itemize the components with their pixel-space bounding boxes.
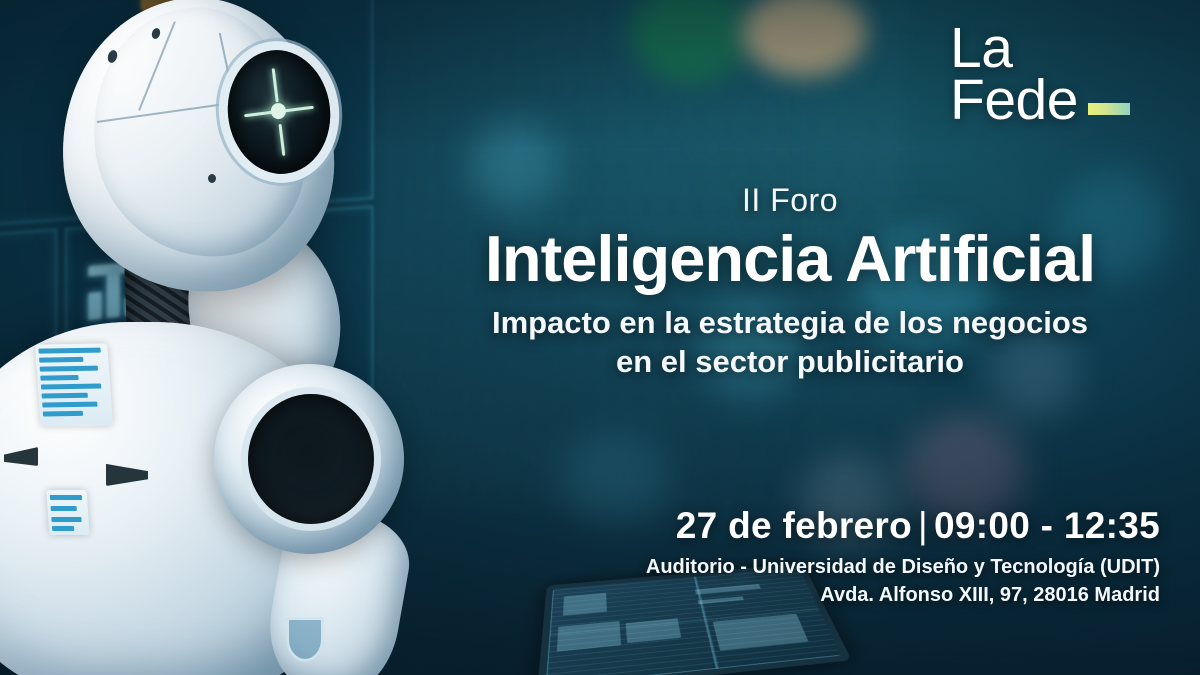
logo-accent-bar (1088, 103, 1130, 115)
event-poster: La Fede II Foro Inteligencia Artificial … (0, 0, 1200, 675)
event-title: Inteligencia Artificial (420, 225, 1160, 293)
event-time: 09:00 - 12:35 (934, 505, 1160, 546)
event-venue-line-2: Avda. Alfonso XIII, 97, 28016 Madrid (420, 581, 1160, 609)
brand-logo: La Fede (950, 22, 1160, 127)
event-edition: II Foro (742, 182, 838, 218)
event-datetime: 27 de febrero|09:00 - 12:35 (420, 505, 1160, 547)
logo-line-2: Fede (950, 74, 1078, 126)
robot-eye-cross (278, 124, 285, 156)
logo-line-1: La (950, 22, 1160, 74)
logo-line-2-row: Fede (950, 74, 1160, 126)
robot-eye-cross (244, 111, 274, 118)
robot-badge (286, 617, 324, 662)
robot-shoulder-joint (214, 364, 404, 554)
event-subtitle-line-2: en el sector publicitario (420, 342, 1160, 382)
event-subtitle-line-1: Impacto en la estrategia de los negocios (420, 303, 1160, 343)
event-venue-line-1: Auditorio - Universidad de Diseño y Tecn… (420, 553, 1160, 581)
robot-chest-display (35, 343, 113, 426)
datetime-separator: | (912, 505, 934, 546)
robot-eye-pupil (270, 102, 287, 120)
robot-eye-cross (272, 68, 279, 102)
event-date: 27 de febrero (676, 505, 912, 546)
headline-block: II Foro Inteligencia Artificial Impacto … (420, 182, 1160, 382)
robot-eye-cross (284, 106, 314, 113)
robot-chest-display (46, 490, 89, 535)
robot-sensor-dot (208, 174, 216, 183)
robot-illustration (0, 0, 406, 675)
event-info-block: 27 de febrero|09:00 - 12:35 Auditorio - … (420, 505, 1160, 610)
